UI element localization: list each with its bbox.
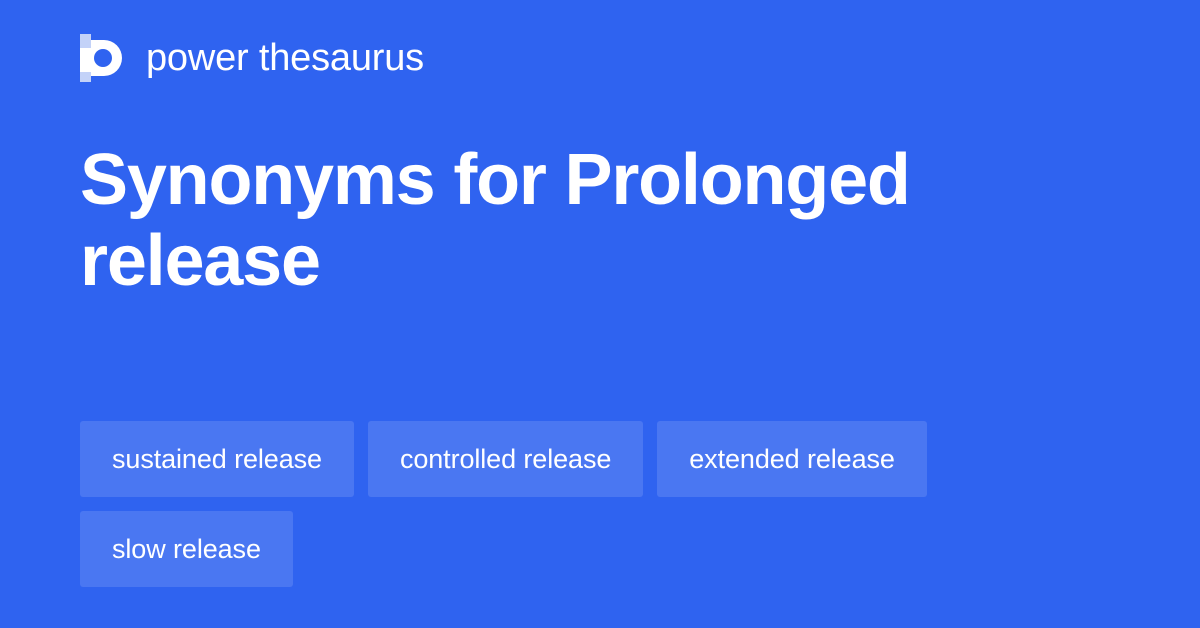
brand-name: power thesaurus: [146, 39, 424, 77]
synonym-chip-list: sustained release controlled release ext…: [80, 421, 1120, 587]
synonym-chip[interactable]: slow release: [80, 511, 293, 587]
page-title: Synonyms for Prolonged release: [80, 140, 1090, 301]
synonym-chip[interactable]: extended release: [657, 421, 927, 497]
share-card: power thesaurus Synonyms for Prolonged r…: [0, 0, 1200, 628]
power-thesaurus-b-logo-icon: [80, 34, 124, 82]
synonym-chip[interactable]: sustained release: [80, 421, 354, 497]
brand-header[interactable]: power thesaurus: [80, 30, 424, 86]
synonym-chip[interactable]: controlled release: [368, 421, 643, 497]
